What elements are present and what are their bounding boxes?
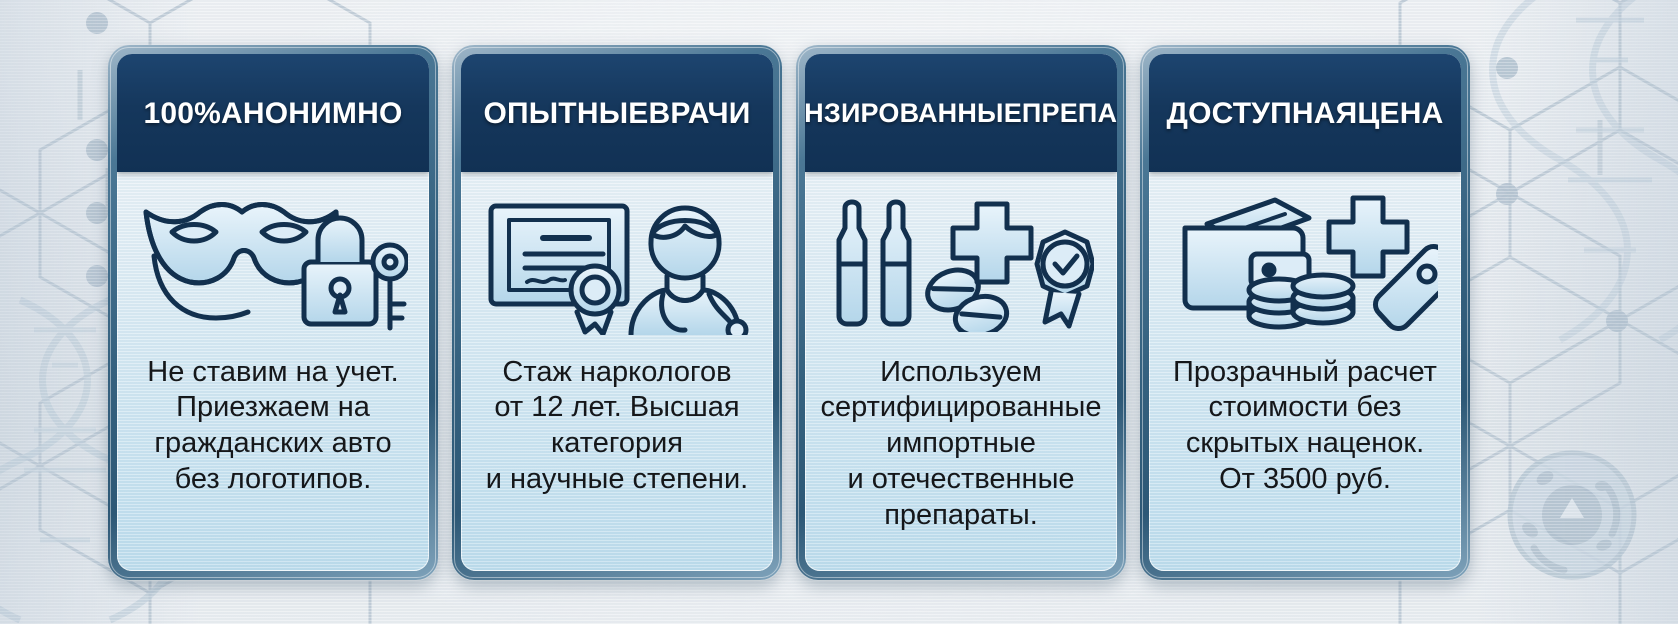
card-title-line-1: ОПЫТНЫЕ (483, 97, 648, 130)
feature-card-list: 100% АНОНИМНО (0, 0, 1678, 624)
card-title-line-2: ПРЕПАРАТЫ (1022, 99, 1117, 129)
card-body-anonymity: Не ставим на учет. Приезжаем на гражданс… (117, 347, 429, 571)
card-title-anonymity: 100% АНОНИМНО (117, 54, 429, 172)
card-title-line-2: АНОНИМНО (221, 97, 402, 130)
body-line: от 12 лет. Высшая (486, 390, 748, 426)
feature-card-licensed-drugs[interactable]: ЛИЦЕНЗИРОВАННЫЕ ПРЕПАРАТЫ (796, 45, 1126, 580)
body-line: гражданских авто (147, 426, 398, 462)
body-line: категория (486, 426, 748, 462)
card-title-line-1: ЛИЦЕНЗИРОВАННЫЕ (805, 99, 1022, 129)
card-body-experienced-doctors: Стаж наркологов от 12 лет. Высшая катего… (461, 347, 773, 571)
body-line: скрытых наценок. (1173, 426, 1437, 462)
doctor-icon (631, 208, 746, 335)
body-line: стоимости без (1173, 390, 1437, 426)
verified-badge-icon (1037, 232, 1093, 326)
body-line: Используем (821, 355, 1102, 391)
card-title-line-2: ВРАЧИ (648, 97, 750, 130)
feature-card-experienced-doctors[interactable]: ОПЫТНЫЕ ВРАЧИ (452, 45, 782, 580)
body-line: без логотипов. (147, 462, 398, 498)
body-line: импортные (821, 426, 1102, 462)
body-line: Не ставим на учет. (147, 355, 398, 391)
body-line: препараты. (821, 498, 1102, 534)
ampoule-icon (839, 202, 909, 324)
card-title-affordable-price: ДОСТУПНАЯ ЦЕНА (1149, 54, 1461, 172)
body-line: Приезжаем на (147, 390, 398, 426)
body-line: сертифицированные (821, 390, 1102, 426)
card-icon-group-doctors (461, 172, 773, 347)
card-icon-group-price (1149, 172, 1461, 347)
award-ribbon-icon (571, 266, 619, 334)
body-line: Стаж наркологов (486, 355, 748, 391)
body-line: и отечественные (821, 462, 1102, 498)
body-line: От 3500 руб. (1173, 462, 1437, 498)
body-line: Прозрачный расчет (1173, 355, 1437, 391)
card-title-line-1: 100% (143, 97, 221, 130)
promo-banner: 100% АНОНИМНО (0, 0, 1678, 624)
feature-card-affordable-price[interactable]: ДОСТУПНАЯ ЦЕНА (1140, 45, 1470, 580)
body-line: и научные степени. (486, 462, 748, 498)
card-title-experienced-doctors: ОПЫТНЫЕ ВРАЧИ (461, 54, 773, 172)
card-icon-group-anonymity (117, 172, 429, 347)
card-icon-group-drugs (805, 172, 1117, 347)
card-title-line-1: ДОСТУПНАЯ (1167, 97, 1358, 130)
coins-icon (1249, 275, 1353, 327)
card-body-licensed-drugs: Используем сертифицированные импортные и… (805, 347, 1117, 571)
medical-cross-icon (1329, 198, 1407, 276)
feature-card-anonymity[interactable]: 100% АНОНИМНО (108, 45, 438, 580)
card-body-affordable-price: Прозрачный расчет стоимости без скрытых … (1149, 347, 1461, 571)
card-title-licensed-drugs: ЛИЦЕНЗИРОВАННЫЕ ПРЕПАРАТЫ (805, 54, 1117, 172)
card-title-line-2: ЦЕНА (1357, 97, 1443, 130)
